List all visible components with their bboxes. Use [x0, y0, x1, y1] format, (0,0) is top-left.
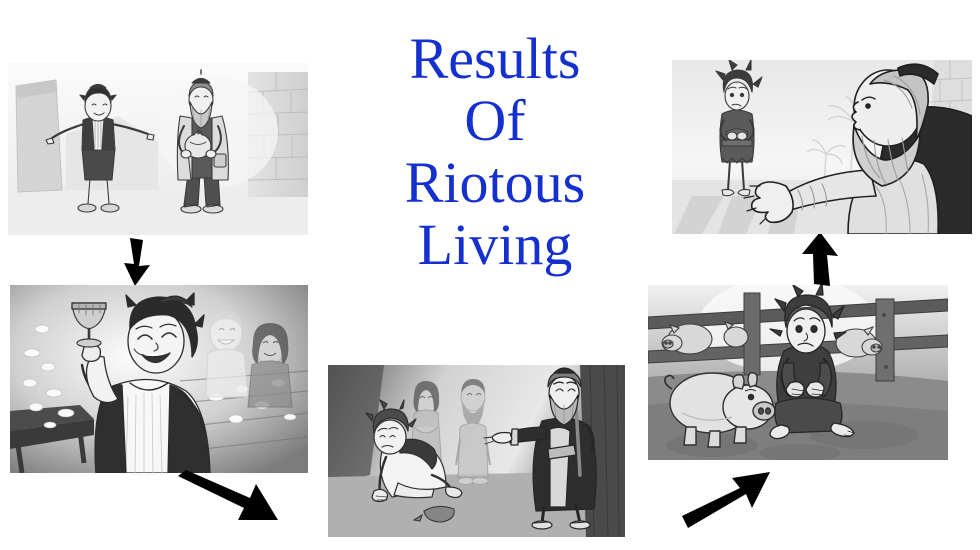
arrow-down-icon	[108, 238, 168, 286]
panel-riotous-feast	[10, 285, 308, 473]
title-line-4: Living	[330, 214, 660, 276]
arrow-up-icon	[790, 232, 848, 288]
title-line-2: Of	[330, 90, 660, 152]
panel-inheritance	[8, 62, 308, 235]
panel-pig-pen	[648, 285, 948, 460]
arrow-down-right-icon	[172, 468, 284, 530]
arrow-up-right-icon	[680, 470, 778, 532]
title-line-3: Riotous	[330, 152, 660, 214]
page-title: Results Of Riotous Living	[330, 28, 660, 276]
panel-cast-out	[328, 365, 625, 537]
storyboard-canvas: Results Of Riotous Living	[0, 0, 980, 550]
panel-fathers-welcome	[672, 60, 972, 234]
title-line-1: Results	[330, 28, 660, 90]
